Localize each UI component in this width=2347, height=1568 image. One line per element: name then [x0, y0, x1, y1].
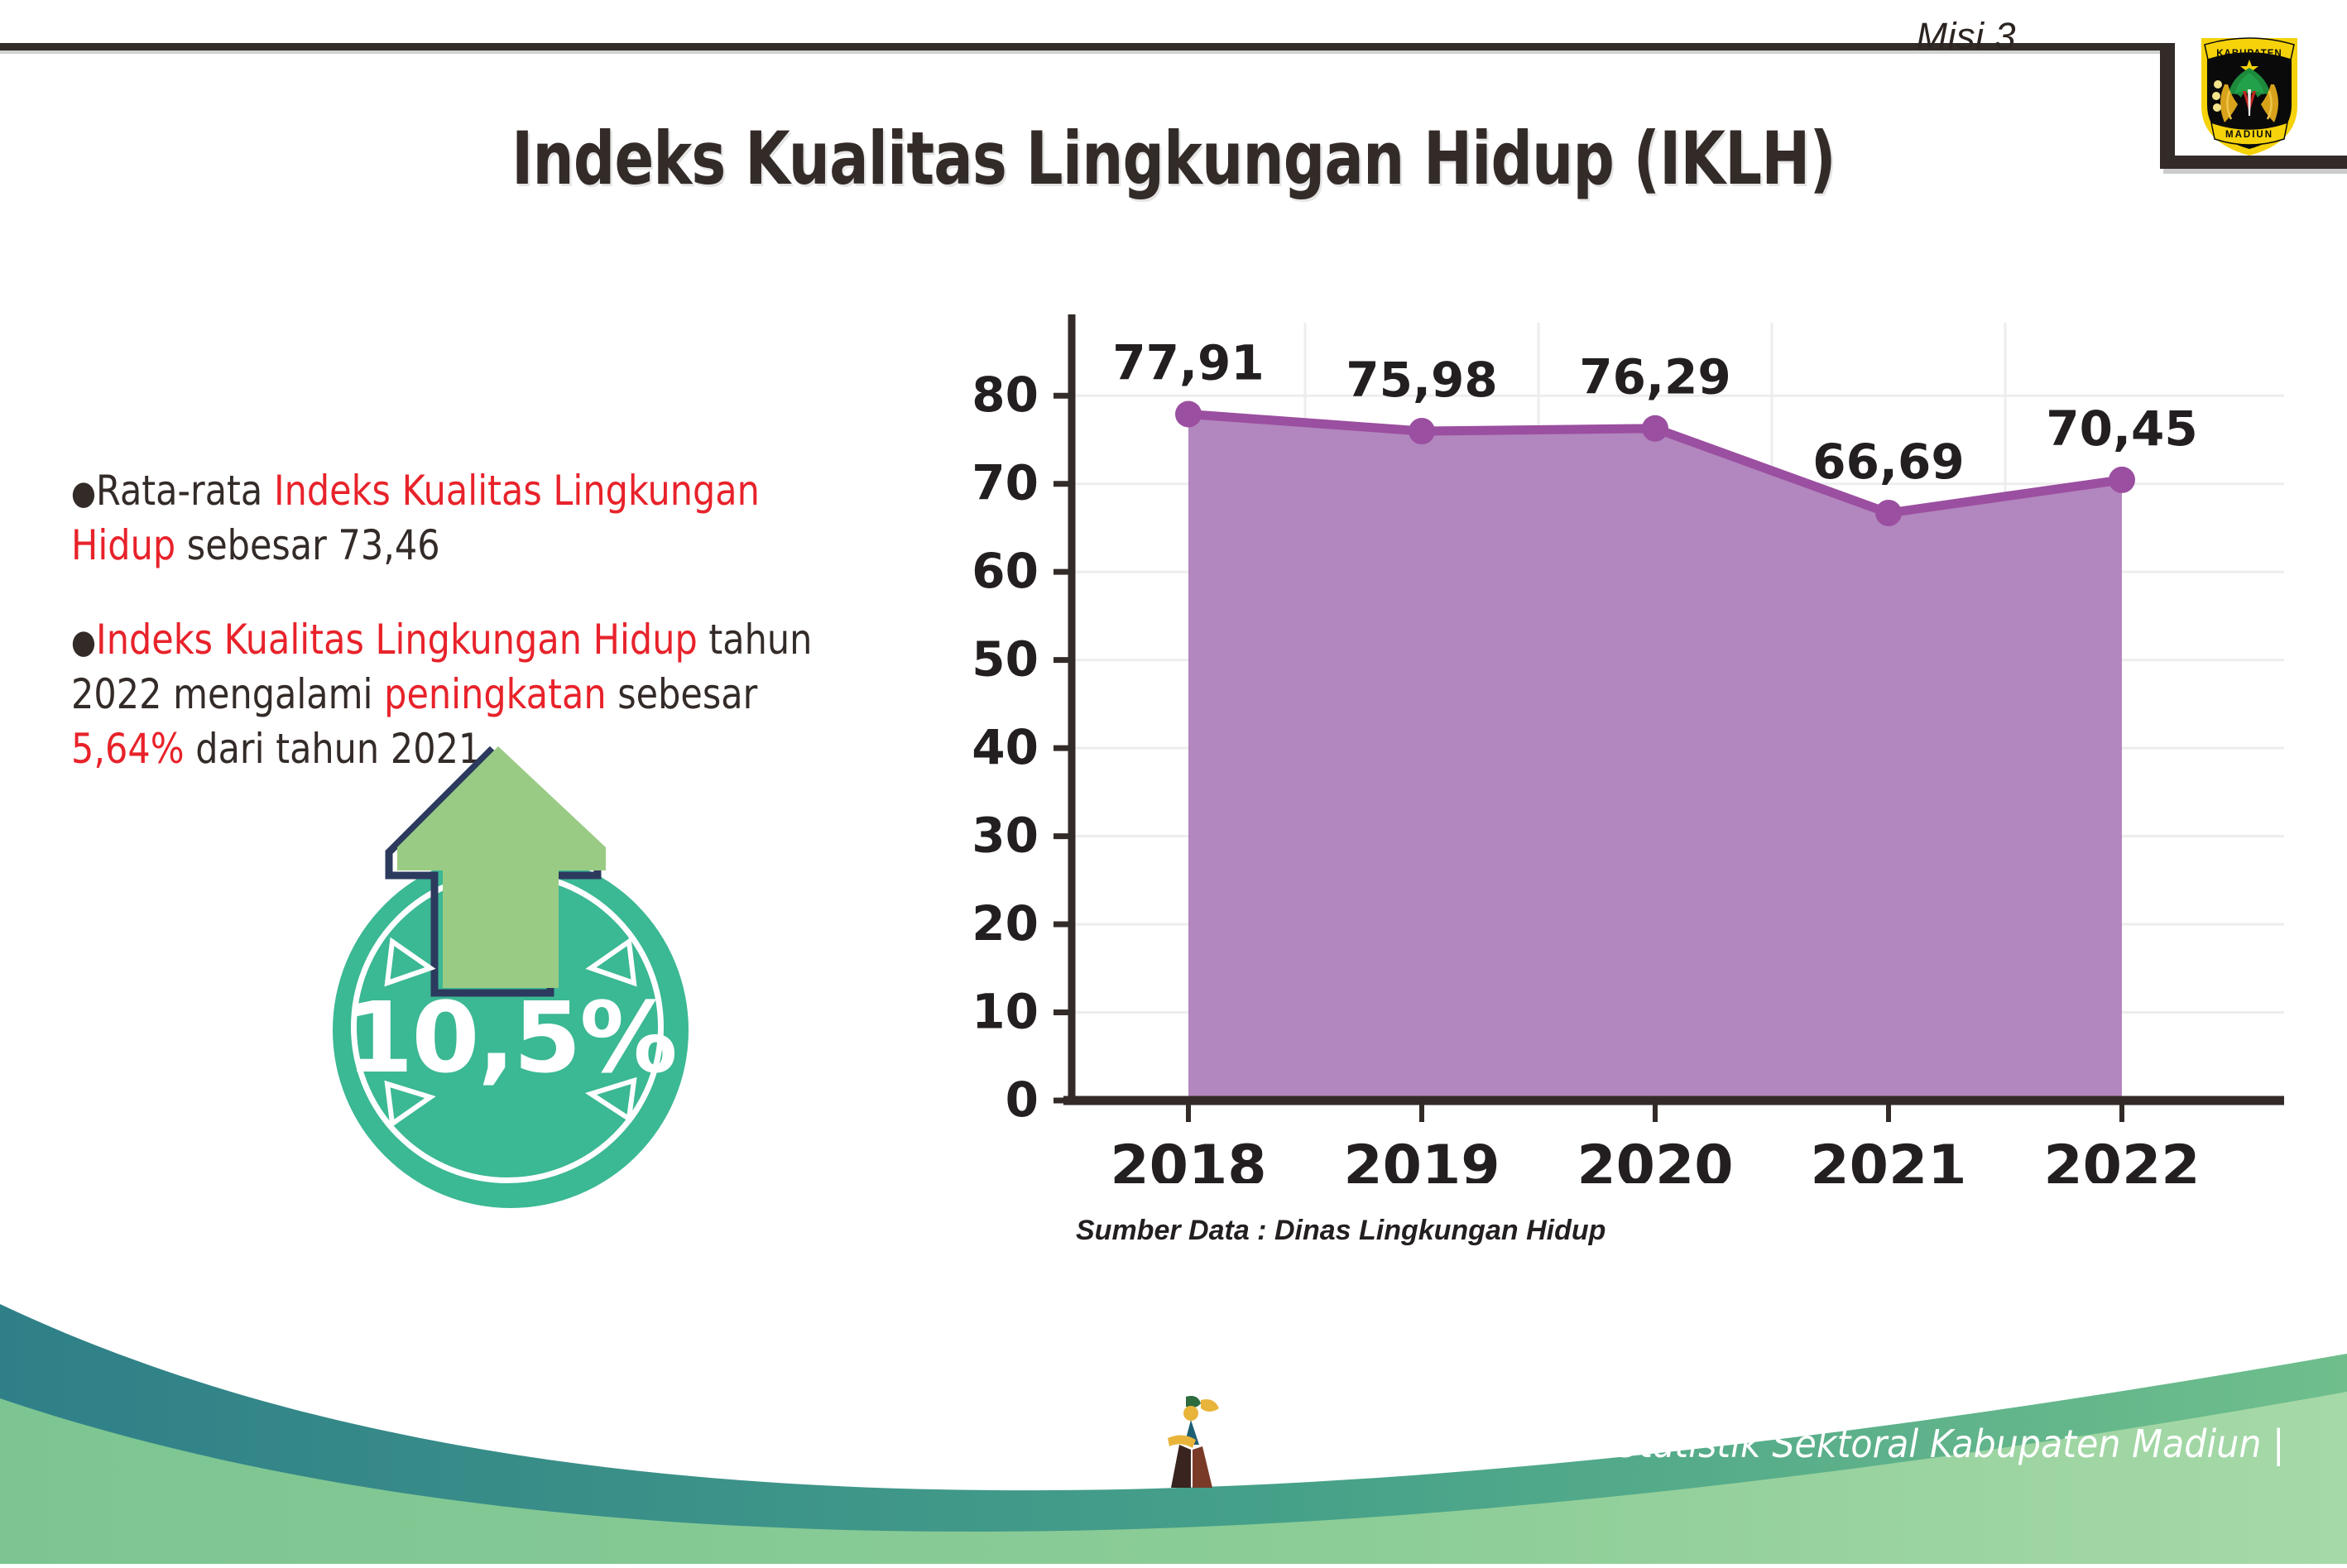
y-tick-label: 60: [972, 543, 1039, 599]
iklh-area-chart: 77,9175,9876,2966,6970,45010203040506070…: [927, 273, 2301, 1183]
y-tick-label: 40: [972, 719, 1039, 775]
slide-canvas: Misi 3 KABUPATEN: [0, 0, 2347, 1564]
bullet-dot: ●: [71, 474, 96, 512]
data-label: 70,45: [2046, 400, 2197, 457]
header-corner-vertical: [2160, 43, 2175, 169]
growth-badge: 10,5%: [323, 745, 753, 1208]
x-tick-label: 2021: [1810, 1134, 1966, 1183]
bullet-1-part-0: Indeks Kualitas Lingkungan Hidup: [96, 616, 698, 664]
x-tick-label: 2022: [2043, 1134, 2200, 1183]
y-tick-label: 30: [972, 808, 1039, 864]
svg-text:KABUPATEN: KABUPATEN: [2216, 49, 2282, 59]
bullet-1-part-4: 5,64%: [71, 725, 185, 773]
y-tick-label: 50: [972, 631, 1039, 688]
x-tick-label: 2019: [1343, 1134, 1500, 1183]
header-corner-shadow: [2163, 169, 2347, 174]
y-tick-label: 70: [972, 455, 1039, 511]
data-label: 76,29: [1579, 349, 1730, 405]
y-tick-label: 0: [1006, 1072, 1039, 1128]
misi-label: Misi 3: [1916, 15, 2016, 58]
data-label: 66,69: [1812, 434, 1964, 490]
page-title: Indeks Kualitas Lingkungan Hidup (IKLH): [235, 116, 2113, 201]
badge-percent-label: 10,5%: [333, 981, 689, 1095]
y-tick-label: 10: [972, 984, 1039, 1040]
data-label: 77,91: [1112, 334, 1264, 391]
bullet-1-part-2: peningkatan: [384, 670, 606, 718]
header-rule: [0, 43, 2167, 50]
statistics-mascot-icon: [1154, 1392, 1234, 1491]
svg-text:MADIUN: MADIUN: [2225, 130, 2273, 140]
bullet-dot: ●: [71, 623, 96, 661]
x-tick-label: 2020: [1577, 1134, 1733, 1183]
bullet-0-part-2: sebesar 73,46: [175, 521, 439, 569]
x-tick-label: 2018: [1110, 1134, 1266, 1183]
bullet-0-part-0: Rata-rata: [96, 467, 274, 515]
bullet-1-part-3: sebesar: [607, 670, 758, 718]
list-item: ●Rata-rata Indeks Kualitas Lingkungan Hi…: [71, 463, 847, 573]
footer-label: Media Infografis Data Statistik Sektoral…: [1225, 1422, 2284, 1466]
chart-source-note: Sumber Data : Dinas Lingkungan Hidup: [1076, 1215, 1605, 1247]
data-label: 75,98: [1346, 352, 1497, 408]
y-tick-label: 20: [972, 895, 1039, 952]
header-rule-shadow: [0, 50, 2167, 54]
y-tick-label: 80: [972, 367, 1039, 423]
kabupaten-madiun-logo-icon: KABUPATEN MADIUN: [2191, 26, 2307, 159]
